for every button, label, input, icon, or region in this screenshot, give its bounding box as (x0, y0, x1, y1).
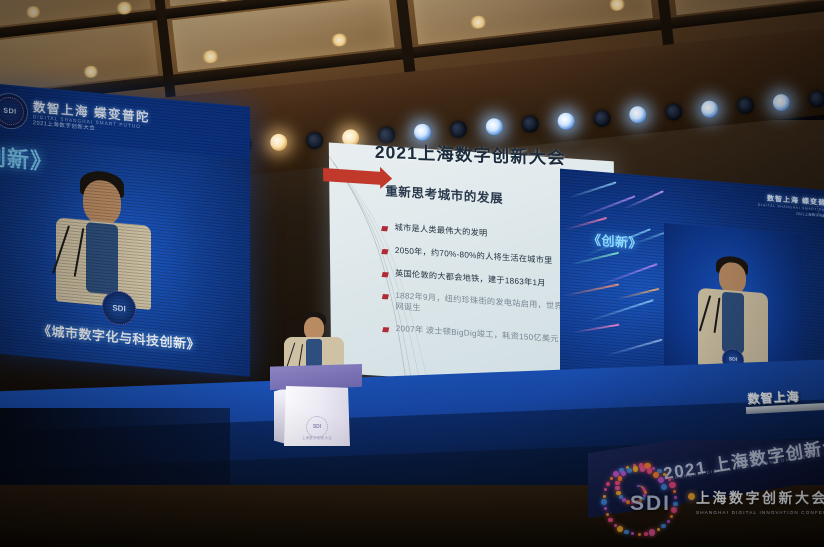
podium-side-panel (274, 388, 286, 444)
left-screen-side-text: 创新》 (0, 139, 53, 177)
right-screen-side-text: 《创新》 (588, 229, 642, 252)
podium: SDI 上海数字创新大会 (262, 310, 370, 445)
sdi-accent-dot-icon (688, 493, 695, 500)
podium-front-panel: SDI 上海数字创新大会 (284, 386, 350, 446)
sdi-mark: SDI (630, 492, 671, 516)
bullet-marker-icon (381, 249, 388, 254)
bullet-marker-icon (382, 327, 389, 332)
sdi-name-en: SHANGHAI DIGITAL INNOVATION CONFERENCE (696, 510, 824, 515)
sdi-name-cn: 上海数字创新大会 (696, 488, 824, 508)
right-screen-banner: 数智上海 蝶变普陀 DIGITAL SHANGHAI SMART PUTUO 2… (758, 193, 824, 219)
sdi-emblem-icon: SDI (0, 91, 28, 130)
bullet-text: 城市是人类最伟大的发明 (395, 223, 488, 239)
screen-emblem-text: SDI (112, 303, 125, 313)
sdi-emblem-text: SDI (3, 107, 16, 115)
podium-emblem-text: SDI (313, 424, 321, 430)
screen-speaker-figure (50, 167, 158, 309)
sdi-logo-block: 2021 上海数字创新大会 SHANGHAI DIGITAL INNOVATIO… (588, 440, 824, 547)
sdi-wordmark: 上海数字创新大会 SHANGHAI DIGITAL INNOVATION CON… (696, 488, 824, 515)
slide-heading: 重新思考城市的发展 (385, 180, 503, 207)
standing-letters-prop: 数智上海 (747, 386, 824, 432)
slide-title: 2021上海数字创新大会 (375, 139, 566, 170)
bullet-text: 2050年，约70%-80%的人将生活在城市里 (395, 246, 553, 267)
podium-top-surface (270, 364, 362, 390)
podium-label: 上海数字创新大会 (284, 435, 350, 440)
conference-stage-photo: SDI 数智上海 蝶变普陀 DIGITAL SHANGHAI SMART PUT… (0, 0, 824, 547)
bullet-marker-icon (382, 294, 389, 299)
right-feed-emblem-text: SDI (729, 356, 737, 363)
bullet-marker-icon (382, 272, 389, 277)
bullet-marker-icon (381, 226, 388, 231)
bullet-text: 英国伦敦的大都会地铁，建于1863年1月 (395, 268, 546, 288)
red-arrow-icon (323, 168, 381, 185)
bullet-text: 2007年 波士顿BigDig竣工，耗资150亿美元 (396, 324, 559, 345)
left-led-screen: SDI 数智上海 蝶变普陀 DIGITAL SHANGHAI SMART PUT… (0, 83, 250, 377)
